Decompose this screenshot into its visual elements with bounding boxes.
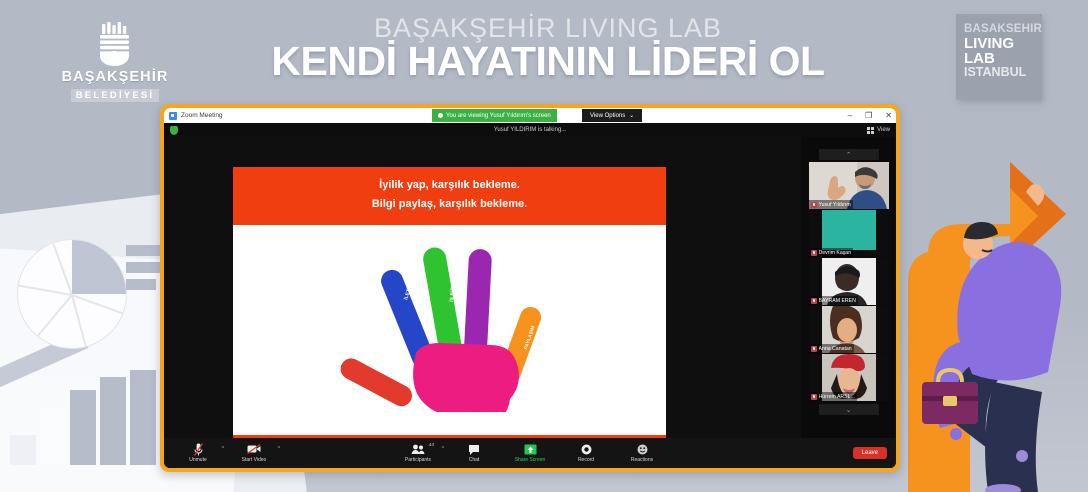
bg-pie-chart-icon [18, 240, 126, 348]
unmute-label: Unmute [170, 457, 226, 463]
participants-count: 44 [429, 442, 434, 447]
zoom-toolbar: Unmute ^ Start Video ^ [164, 438, 896, 468]
shared-screen-stage: İyilik yap, karşılık bekleme. Bilgi payl… [164, 137, 801, 438]
chevron-up-icon[interactable]: ^ [278, 446, 280, 452]
participant-tile[interactable]: Hürrem ARSL... [809, 354, 889, 401]
record-button[interactable]: Record [558, 443, 614, 463]
participants-button[interactable]: 44 Participants ^ [390, 443, 446, 463]
mic-muted-icon [811, 298, 817, 304]
unmute-button[interactable]: Unmute ^ [170, 443, 226, 463]
municipality-logo-line1: BAŞAKŞEHİR [50, 69, 180, 85]
maximize-button[interactable]: ❐ [865, 112, 872, 120]
participant-name: BAYRAM EREN [819, 298, 856, 304]
poster-background: BAŞAKŞEHİR BELEDİYESİ BAŞAKŞEHİR LIVING … [0, 0, 1088, 492]
participant-tile[interactable]: Anna Canatan [809, 306, 889, 353]
view-options-label: View Options [590, 113, 625, 119]
mic-muted-icon [811, 202, 817, 208]
participant-name: Yusuf Yıldırım [819, 202, 851, 208]
reactions-label: Reactions [614, 457, 670, 463]
zoom-title-bar: Zoom Meeting You are viewing Yusuf Yıldı… [164, 108, 896, 123]
share-screen-label: Share Screen [502, 457, 558, 463]
mic-muted-icon [811, 394, 817, 400]
view-switch-button[interactable]: View [867, 127, 890, 134]
scroll-up-button[interactable]: ⌃ [819, 149, 879, 160]
presentation-slide: İyilik yap, karşılık bekleme. Bilgi payl… [233, 167, 666, 455]
chevron-down-icon: ⌄ [629, 112, 634, 119]
record-label: Record [558, 457, 614, 463]
municipality-logo-line2: BELEDİYESİ [71, 89, 160, 102]
bg-bar-chart-icon [10, 370, 170, 465]
participant-name: Hürrem ARSL... [819, 394, 855, 400]
participant-tile[interactable]: Devrim Kaşan [809, 210, 889, 257]
minimize-button[interactable]: – [848, 112, 852, 120]
slide-body: YARDIMLAŞMA DAYANIŞMA İLETİŞİM İŞ BİRLİĞ… [233, 225, 666, 436]
participants-icon [390, 443, 446, 455]
chat-bubble-icon [446, 443, 502, 455]
bg-legend-bar [126, 279, 156, 290]
window-title: Zoom Meeting [181, 112, 223, 119]
record-icon [558, 443, 614, 455]
view-options-button[interactable]: View Options ⌄ [582, 109, 642, 122]
participant-name: Anna Canatan [819, 346, 852, 352]
zoom-meeting-window[interactable]: Zoom Meeting You are viewing Yusuf Yıldı… [160, 104, 900, 472]
participants-filmstrip: ⌃ [801, 137, 896, 438]
slide-header: İyilik yap, karşılık bekleme. Bilgi payl… [233, 167, 666, 225]
view-switch-label: View [877, 127, 890, 133]
screen-share-banner: You are viewing Yusuf Yıldırım's screen [432, 109, 557, 122]
microphone-muted-icon [170, 443, 226, 455]
living-lab-logo-line1: BASAKSEHIR [964, 24, 1042, 36]
participants-label: Participants [390, 457, 446, 463]
poster-title-block: BAŞAKŞEHİR LIVING LAB KENDİ HAYATININ Lİ… [218, 14, 878, 83]
living-lab-logo: BASAKSEHIR LIVING LAB ISTANBUL [956, 14, 1042, 100]
share-screen-icon [502, 443, 558, 455]
municipality-logo: BAŞAKŞEHİR BELEDİYESİ [50, 22, 180, 103]
start-video-button[interactable]: Start Video ^ [226, 443, 282, 463]
living-lab-logo-line4: ISTANBUL [964, 66, 1042, 79]
share-screen-button[interactable]: Share Screen [502, 443, 558, 463]
chevron-up-icon[interactable]: ^ [442, 446, 444, 452]
talking-status: Yusuf YILDIRIM is talking... [164, 127, 896, 133]
video-camera-off-icon [226, 443, 282, 455]
participant-name: Devrim Kaşan [819, 250, 852, 256]
participant-tiles: Yusuf Yıldırım Devrim Kaşan [809, 162, 889, 401]
wheat-emblem-icon [89, 22, 141, 66]
participant-tile[interactable]: Yusuf Yıldırım [809, 162, 889, 209]
leave-meeting-button[interactable]: Leave [853, 447, 887, 459]
slide-headline-1: İyilik yap, karşılık bekleme. [239, 176, 660, 195]
living-lab-logo-line3: LAB [964, 51, 1042, 66]
reactions-button[interactable]: Reactions [614, 443, 670, 463]
poster-title: KENDİ HAYATININ LİDERİ OL [218, 40, 878, 83]
start-video-label: Start Video [226, 457, 282, 463]
mic-muted-icon [811, 346, 817, 352]
share-indicator-icon [438, 113, 443, 118]
chevron-up-icon[interactable]: ^ [222, 446, 224, 452]
living-lab-logo-line2: LIVING [964, 36, 1042, 51]
zoom-app-icon [169, 112, 177, 120]
scroll-down-button[interactable]: ⌄ [819, 404, 879, 415]
grid-view-icon [867, 127, 874, 134]
chat-label: Chat [446, 457, 502, 463]
chat-button[interactable]: Chat [446, 443, 502, 463]
zoom-status-bar: Yusuf YILDIRIM is talking... View [164, 123, 896, 137]
businessman-climbing-arrow-illustration [898, 104, 1088, 492]
reactions-icon [614, 443, 670, 455]
slide-headline-2: Bilgi paylaş, karşılık bekleme. [239, 195, 660, 214]
colored-handprint-icon [320, 227, 580, 412]
participant-tile[interactable]: BAYRAM EREN [809, 258, 889, 305]
mic-muted-icon [811, 250, 817, 256]
close-button[interactable]: ✕ [885, 112, 892, 120]
zoom-content-area: İyilik yap, karşılık bekleme. Bilgi payl… [164, 137, 896, 438]
screen-share-banner-text: You are viewing Yusuf Yıldırım's screen [446, 113, 551, 119]
